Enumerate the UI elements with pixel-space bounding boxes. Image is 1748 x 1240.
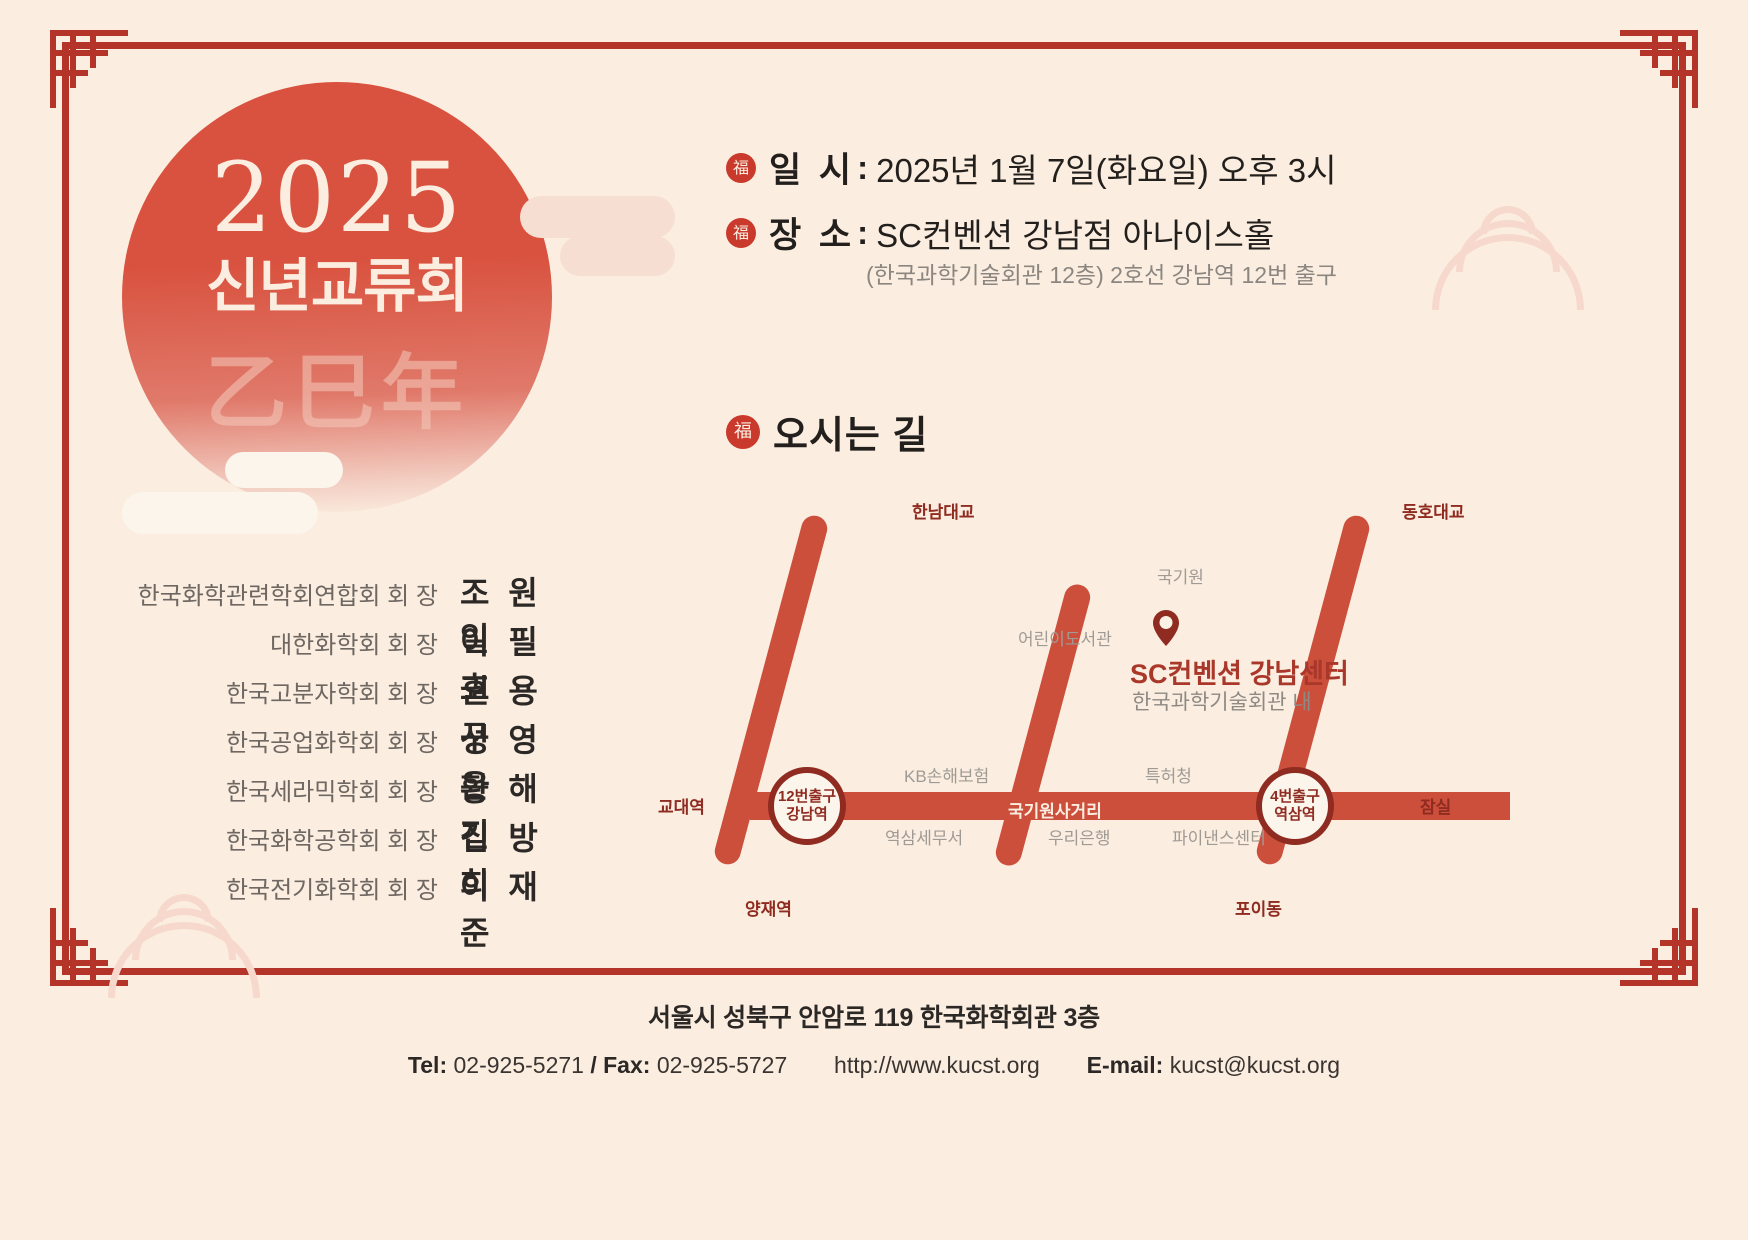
organization-name: 한국화학공학회 회 장 — [226, 821, 438, 856]
footer-separator: / — [590, 1052, 596, 1078]
map-label-dongho-bridge: 동호대교 — [1402, 498, 1465, 523]
footer-tel-label: Tel: — [408, 1052, 447, 1078]
list-item: 한국고분자학회 회 장 권 용 구 — [128, 666, 578, 715]
map-label-jamsil: 잠실 — [1420, 793, 1451, 818]
cloud-decoration-2 — [560, 236, 675, 276]
list-item: 대한화학회 회 장 이 필 호 — [128, 617, 578, 666]
footer-tel-value: 02-925-5271 — [454, 1052, 584, 1078]
location-map: 한남대교 동호대교 교대역 양재역 포이동 잠실 국기원 어린이도서관 KB손해… — [640, 480, 1520, 930]
footer-fax-value: 02-925-5727 — [657, 1052, 787, 1078]
fortune-icon: 福 — [726, 218, 756, 248]
map-label-yangjae-station: 양재역 — [745, 895, 792, 920]
station-name-label: 강남역 — [786, 806, 827, 824]
road-horizontal — [750, 792, 1510, 820]
fortune-icon: 福 — [726, 415, 760, 449]
event-place-row: 福 장 소 : SC컨벤션 강남점 아나이스홀 — [726, 207, 1337, 258]
organization-name: 한국공업화학회 회 장 — [226, 723, 438, 758]
map-label-gukgiwon-crossroad: 국기원사거리 — [1008, 797, 1102, 822]
hero-subtitle: 신년교류회 — [122, 258, 552, 316]
cloud-decoration-1 — [520, 196, 675, 238]
chairperson-list: 한국화학관련학회연합회 회 장 조 원 일 대한화학회 회 장 이 필 호 한국… — [128, 568, 578, 911]
footer-email-label: E-mail: — [1087, 1052, 1164, 1078]
event-date-value: 2025년 1월 7일(화요일) 오후 3시 — [876, 144, 1336, 192]
map-label-kb-insurance: KB손해보험 — [904, 762, 989, 787]
hero-watermark: 乙巳年 — [122, 352, 552, 434]
list-item: 한국공업화학회 회 장 성 영 은 — [128, 715, 578, 764]
event-place-colon: : — [857, 214, 868, 252]
footer-contacts: Tel: 02-925-5271 / Fax: 02-925-5727 http… — [0, 1052, 1748, 1079]
poster-root: 2025 신년교류회 乙巳年 福 일 시 : 2025년 1월 7일(화요일) … — [0, 0, 1748, 1240]
map-label-gukgiwon: 국기원 — [1157, 563, 1204, 588]
event-date-colon: : — [857, 149, 868, 187]
map-label-children-library: 어린이도서관 — [1018, 625, 1112, 650]
organization-name: 대한화학회 회 장 — [270, 625, 438, 660]
organization-name: 한국전기화학회 회 장 — [226, 870, 438, 905]
frame-border-bottom — [62, 968, 1686, 975]
event-info-block: 福 일 시 : 2025년 1월 7일(화요일) 오후 3시 福 장 소 : S… — [726, 142, 1337, 290]
list-item: 한국화학공학회 회 장 김 방 희 — [128, 813, 578, 862]
footer-website-link[interactable]: http://www.kucst.org — [834, 1052, 1040, 1078]
event-place-note: (한국과학기술회관 12층) 2호선 강남역 12번 출구 — [866, 256, 1337, 290]
route-heading: 福 오시는 길 — [726, 404, 928, 459]
corner-ornament-bottom-right — [1620, 908, 1698, 986]
map-label-hannam-bridge: 한남대교 — [912, 498, 975, 523]
organization-name: 한국고분자학회 회 장 — [226, 674, 438, 709]
frame-border-top — [62, 42, 1686, 49]
cloud-decoration-4 — [122, 492, 318, 534]
cloud-decoration-3 — [225, 452, 343, 488]
event-date-label: 일 시 — [769, 142, 855, 193]
corner-ornament-top-right — [1620, 30, 1698, 108]
station-gangnam[interactable]: 12번출구 강남역 — [768, 767, 846, 845]
footer-email-link[interactable]: kucst@kucst.org — [1170, 1052, 1340, 1078]
station-yeoksam[interactable]: 4번출구 역삼역 — [1256, 767, 1334, 845]
event-place-label: 장 소 — [769, 207, 855, 258]
map-label-patent-office: 특허청 — [1145, 762, 1192, 787]
person-name: 이 재 준 — [460, 862, 578, 954]
footer-address: 서울시 성북구 안암로 119 한국화학회관 3층 — [0, 998, 1748, 1034]
list-item: 한국화학관련학회연합회 회 장 조 원 일 — [128, 568, 578, 617]
station-name-label: 역삼역 — [1274, 806, 1315, 824]
route-title: 오시는 길 — [773, 404, 928, 459]
hero-year: 2025 — [122, 150, 552, 246]
map-label-gyodae-station: 교대역 — [658, 793, 705, 818]
frame-border-right — [1679, 42, 1686, 975]
fortune-icon: 福 — [726, 153, 756, 183]
footer-fax-label: Fax: — [603, 1052, 650, 1078]
organization-name: 한국화학관련학회연합회 회 장 — [138, 576, 438, 611]
map-label-woori-bank: 우리은행 — [1048, 824, 1111, 849]
map-label-poidong: 포이동 — [1235, 895, 1282, 920]
map-pin-icon — [1153, 610, 1179, 646]
venue-subtitle: 한국과학기술회관 내 — [1132, 686, 1312, 716]
event-date-row: 福 일 시 : 2025년 1월 7일(화요일) 오후 3시 — [726, 142, 1337, 193]
list-item: 한국전기화학회 회 장 이 재 준 — [128, 862, 578, 911]
map-label-finance-center: 파이낸스센터 — [1172, 824, 1266, 849]
organization-name: 한국세라믹학회 회 장 — [226, 772, 438, 807]
footer-block: 서울시 성북구 안암로 119 한국화학회관 3층 Tel: 02-925-52… — [0, 998, 1748, 1079]
event-place-value: SC컨벤션 강남점 아나이스홀 — [876, 209, 1274, 257]
station-exit-label: 12번출구 — [778, 788, 836, 806]
map-label-tax-office: 역삼세무서 — [885, 824, 963, 849]
list-item: 한국세라믹학회 회 장 황 해 진 — [128, 764, 578, 813]
station-exit-label: 4번출구 — [1270, 788, 1320, 806]
frame-border-left — [62, 42, 69, 975]
corner-ornament-top-left — [50, 30, 128, 108]
